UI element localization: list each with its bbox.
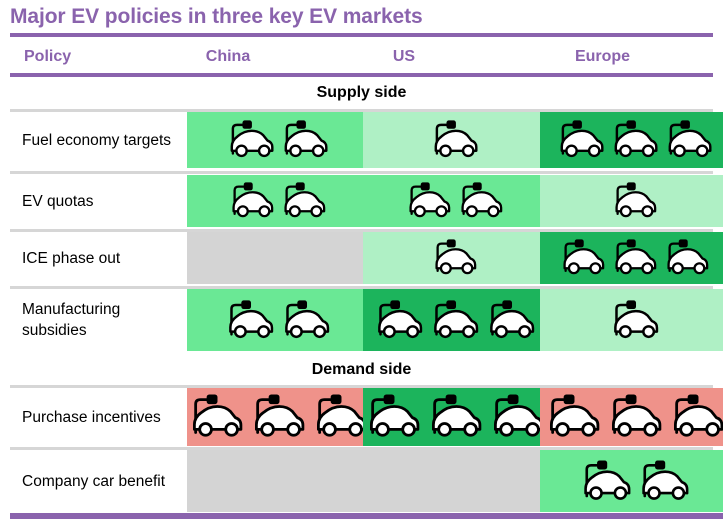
ev-car-charging-icon: [368, 300, 424, 341]
table-row: EV quotas: [0, 175, 723, 227]
ev-policy-matrix-page: Major EV policies in three key EV market…: [0, 0, 723, 529]
page-title: Major EV policies in three key EV market…: [10, 2, 713, 32]
cell-us[interactable]: [363, 175, 540, 227]
cell-europe[interactable]: [540, 388, 723, 446]
row-label: Purchase incentives: [0, 388, 187, 446]
ev-car-charging-icon: [275, 182, 327, 220]
ev-car-charging-icon: [606, 239, 658, 277]
cell-us[interactable]: [363, 289, 540, 351]
ev-car-charging-icon: [275, 300, 331, 341]
ev-car-charging-icon: [306, 394, 363, 440]
ev-car-charging-icon: [221, 120, 275, 160]
row-label: Manufacturing subsidies: [0, 289, 187, 351]
table-row: Company car benefit: [0, 450, 723, 512]
cell-us[interactable]: [363, 450, 540, 512]
ev-car-charging-icon: [400, 182, 452, 220]
cell-china[interactable]: [187, 232, 363, 284]
row-label: Fuel economy targets: [0, 112, 187, 168]
column-header-china: China: [140, 41, 316, 72]
ev-car-charging-icon: [244, 394, 306, 440]
cell-china[interactable]: [187, 388, 363, 446]
column-header-europe: Europe: [492, 41, 713, 72]
table-row: ICE phase out: [0, 232, 723, 284]
column-header-us: US: [316, 41, 492, 72]
cell-us[interactable]: [363, 112, 540, 168]
ev-car-charging-icon: [424, 300, 480, 341]
cell-europe[interactable]: [540, 289, 723, 351]
ev-car-charging-icon: [554, 239, 606, 277]
ev-car-charging-icon: [551, 120, 605, 160]
cell-china[interactable]: [187, 175, 363, 227]
cell-china[interactable]: [187, 289, 363, 351]
ev-car-charging-icon: [425, 120, 479, 160]
ev-car-charging-icon: [606, 182, 658, 220]
cell-europe[interactable]: [540, 450, 723, 512]
header-underline-rule: [10, 73, 713, 77]
row-label: Company car benefit: [0, 450, 187, 512]
ev-car-charging-icon: [483, 394, 541, 440]
table-row: Manufacturing subsidies: [0, 289, 723, 351]
row-label: EV quotas: [0, 175, 187, 227]
ev-car-charging-icon: [540, 394, 601, 440]
column-header-policy: Policy: [10, 41, 140, 72]
ev-car-charging-icon: [604, 300, 660, 341]
cell-europe[interactable]: [540, 232, 723, 284]
cell-us[interactable]: [363, 232, 540, 284]
ev-car-charging-icon: [363, 394, 421, 440]
ev-car-charging-icon: [601, 394, 663, 440]
title-underline-rule: [10, 33, 713, 37]
column-header-row: Policy China US Europe: [10, 41, 713, 72]
ev-car-charging-icon: [574, 460, 632, 503]
row-separator: [10, 171, 713, 174]
ev-car-charging-icon: [426, 239, 478, 277]
cell-china[interactable]: [187, 450, 363, 512]
ev-car-charging-icon: [480, 300, 536, 341]
cell-china[interactable]: [187, 112, 363, 168]
ev-car-charging-icon: [452, 182, 504, 220]
ev-car-charging-icon: [659, 120, 713, 160]
section-header-supply: Supply side: [0, 79, 723, 107]
table-row: Purchase incentives: [0, 388, 723, 446]
ev-car-charging-icon: [605, 120, 659, 160]
cell-us[interactable]: [363, 388, 540, 446]
ev-car-charging-icon: [663, 394, 723, 440]
ev-car-charging-icon: [421, 394, 483, 440]
ev-car-charging-icon: [658, 239, 710, 277]
ev-car-charging-icon: [219, 300, 275, 341]
footer-rule: [10, 513, 723, 519]
section-header-demand: Demand side: [0, 356, 723, 384]
table-row: Fuel economy targets: [0, 112, 723, 168]
ev-car-charging-icon: [187, 394, 244, 440]
ev-car-charging-icon: [275, 120, 329, 160]
row-label: ICE phase out: [0, 232, 187, 284]
cell-europe[interactable]: [540, 175, 723, 227]
cell-europe[interactable]: [540, 112, 723, 168]
ev-car-charging-icon: [223, 182, 275, 220]
ev-car-charging-icon: [632, 460, 690, 503]
